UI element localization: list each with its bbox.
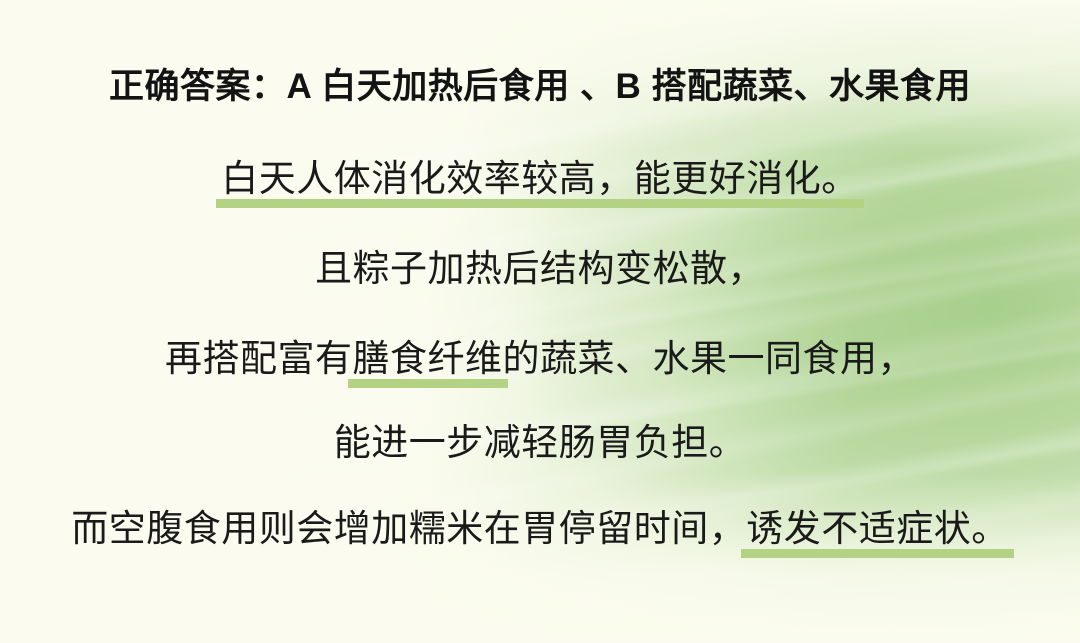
highlighted-phrase: 诱发不适症状。: [746, 498, 1009, 554]
explanation-line-1: 白天人体消化效率较高，能更好消化。: [0, 148, 1080, 204]
answer-title: 正确答案：A 白天加热后食用 、B 搭配蔬菜、水果食用: [0, 58, 1080, 109]
plain-phrase: 而空腹食用则会增加糯米在胃停留时间，: [71, 498, 746, 552]
plain-phrase: 且粽子加热后结构变松散，: [315, 238, 765, 292]
explanation-line-3: 再搭配富有膳食纤维的蔬菜、水果一同食用，: [0, 328, 1080, 384]
explanation-line-2: 且粽子加热后结构变松散，: [0, 238, 1080, 292]
highlighted-phrase: 白天人体消化效率较高，能更好消化。: [221, 148, 859, 204]
slide-canvas: 正确答案：A 白天加热后食用 、B 搭配蔬菜、水果食用 白天人体消化效率较高，能…: [0, 0, 1080, 643]
highlighted-phrase: 膳食纤维: [353, 328, 503, 384]
plain-phrase: 的蔬菜、水果一同食用，: [503, 328, 916, 382]
plain-phrase: 再搭配富有: [165, 328, 353, 382]
explanation-line-4: 能进一步减轻肠胃负担。: [0, 412, 1080, 466]
slide-content: 正确答案：A 白天加热后食用 、B 搭配蔬菜、水果食用 白天人体消化效率较高，能…: [0, 0, 1080, 643]
explanation-line-5: 而空腹食用则会增加糯米在胃停留时间，诱发不适症状。: [0, 498, 1080, 554]
plain-phrase: 能进一步减轻肠胃负担。: [334, 412, 747, 466]
